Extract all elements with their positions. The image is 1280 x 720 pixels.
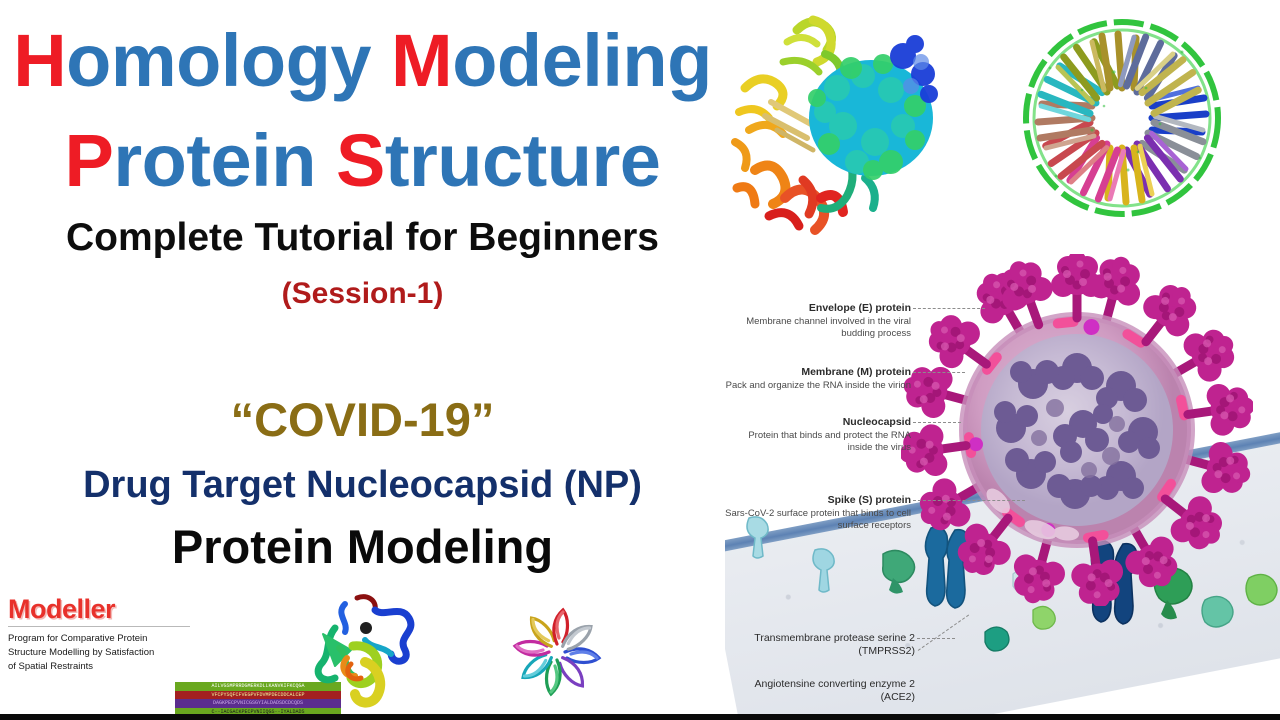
leader-line-spike (913, 500, 1025, 501)
title-initial-p: P (65, 119, 114, 202)
drug-target-text: Drug Target Nucleocapsid (NP) (0, 464, 725, 507)
title-initial-m: M (391, 19, 452, 102)
sars-cov-2-virion (901, 254, 1253, 606)
bottom-letterbox-bar (0, 714, 1280, 720)
sars-cov-2-infographic: Envelope (E) protein Membrane channel in… (725, 246, 1280, 720)
modeller-desc-line-1: Program for Comparative Protein (8, 632, 193, 646)
small-receptor-icon (979, 622, 1015, 658)
callout-title: Envelope (E) protein (725, 302, 911, 315)
slide-canvas: Homology Modeling Protein Structure Comp… (0, 0, 1280, 720)
modeller-logo: Modeller Program for Comparative Protein… (8, 596, 193, 673)
leader-line-membrane (913, 372, 965, 373)
session-label: (Session-1) (0, 277, 725, 311)
rainbow-ribbon-structure-icon (305, 592, 455, 712)
title-word-homology: omology (66, 19, 371, 102)
callout-nucleocapsid: Nucleocapsid Protein that binds and prot… (725, 416, 911, 455)
modeller-desc-line-3: of Spatial Restraints (8, 660, 193, 674)
modeller-divider (8, 626, 190, 627)
activity-text: Protein Modeling (0, 519, 725, 574)
cell-surface-receptor-icon (807, 546, 841, 594)
modeller-desc-line-2: Structure Modelling by Satisfaction (8, 646, 193, 660)
leader-line-envelope (913, 308, 985, 309)
protein-structure-cartoon-surface (725, 2, 970, 242)
main-title-line-2: Protein Structure (0, 124, 725, 198)
callout-description: Protein that binds and protect the RNA i… (725, 430, 911, 455)
callout-title: Transmembrane protease serine 2 (TMPRSS2… (745, 632, 915, 658)
illustration-panel: Envelope (E) protein Membrane channel in… (725, 0, 1280, 720)
callout-spike-protein: Spike (S) protein Sars-CoV-2 surface pro… (725, 494, 911, 533)
callout-membrane-protein: Membrane (M) protein Pack and organize t… (725, 366, 911, 392)
leader-line-nucleocapsid (913, 422, 961, 423)
small-receptor-icon (1027, 602, 1061, 636)
subtitle-text: Complete Tutorial for Beginners (0, 216, 725, 260)
callout-ace2: Angiotensine converting enzyme 2 (ACE2) (731, 678, 915, 704)
callout-envelope-protein: Envelope (E) protein Membrane channel in… (725, 302, 911, 341)
title-panel: Homology Modeling Protein Structure Comp… (0, 0, 725, 720)
callout-description: Membrane channel involved in the viral b… (725, 316, 911, 341)
modeller-description: Program for Comparative Protein Structur… (8, 632, 193, 673)
callout-title: Membrane (M) protein (725, 366, 911, 379)
title-word-protein: rotein (113, 119, 316, 202)
callout-title: Spike (S) protein (725, 494, 911, 507)
ring-protein-complex-structure (1000, 6, 1250, 236)
callout-tmprss2: Transmembrane protease serine 2 (TMPRSS2… (745, 632, 915, 658)
callout-title: Nucleocapsid (725, 416, 911, 429)
topic-covid19: “COVID-19” (0, 392, 725, 447)
callout-title: Angiotensine converting enzyme 2 (ACE2) (731, 678, 915, 704)
pinwheel-complex-structure-icon (485, 596, 625, 706)
callout-description: Pack and organize the RNA inside the vir… (725, 380, 911, 392)
main-title-line-1: Homology Modeling (0, 24, 725, 98)
title-initial-s: S (336, 119, 385, 202)
title-word-modeling: odeling (452, 19, 712, 102)
modeller-wordmark: Modeller (8, 596, 193, 623)
callout-description: Sars-CoV-2 surface protein that binds to… (725, 508, 911, 533)
title-word-structure: tructure (385, 119, 661, 202)
title-initial-h: H (13, 19, 66, 102)
